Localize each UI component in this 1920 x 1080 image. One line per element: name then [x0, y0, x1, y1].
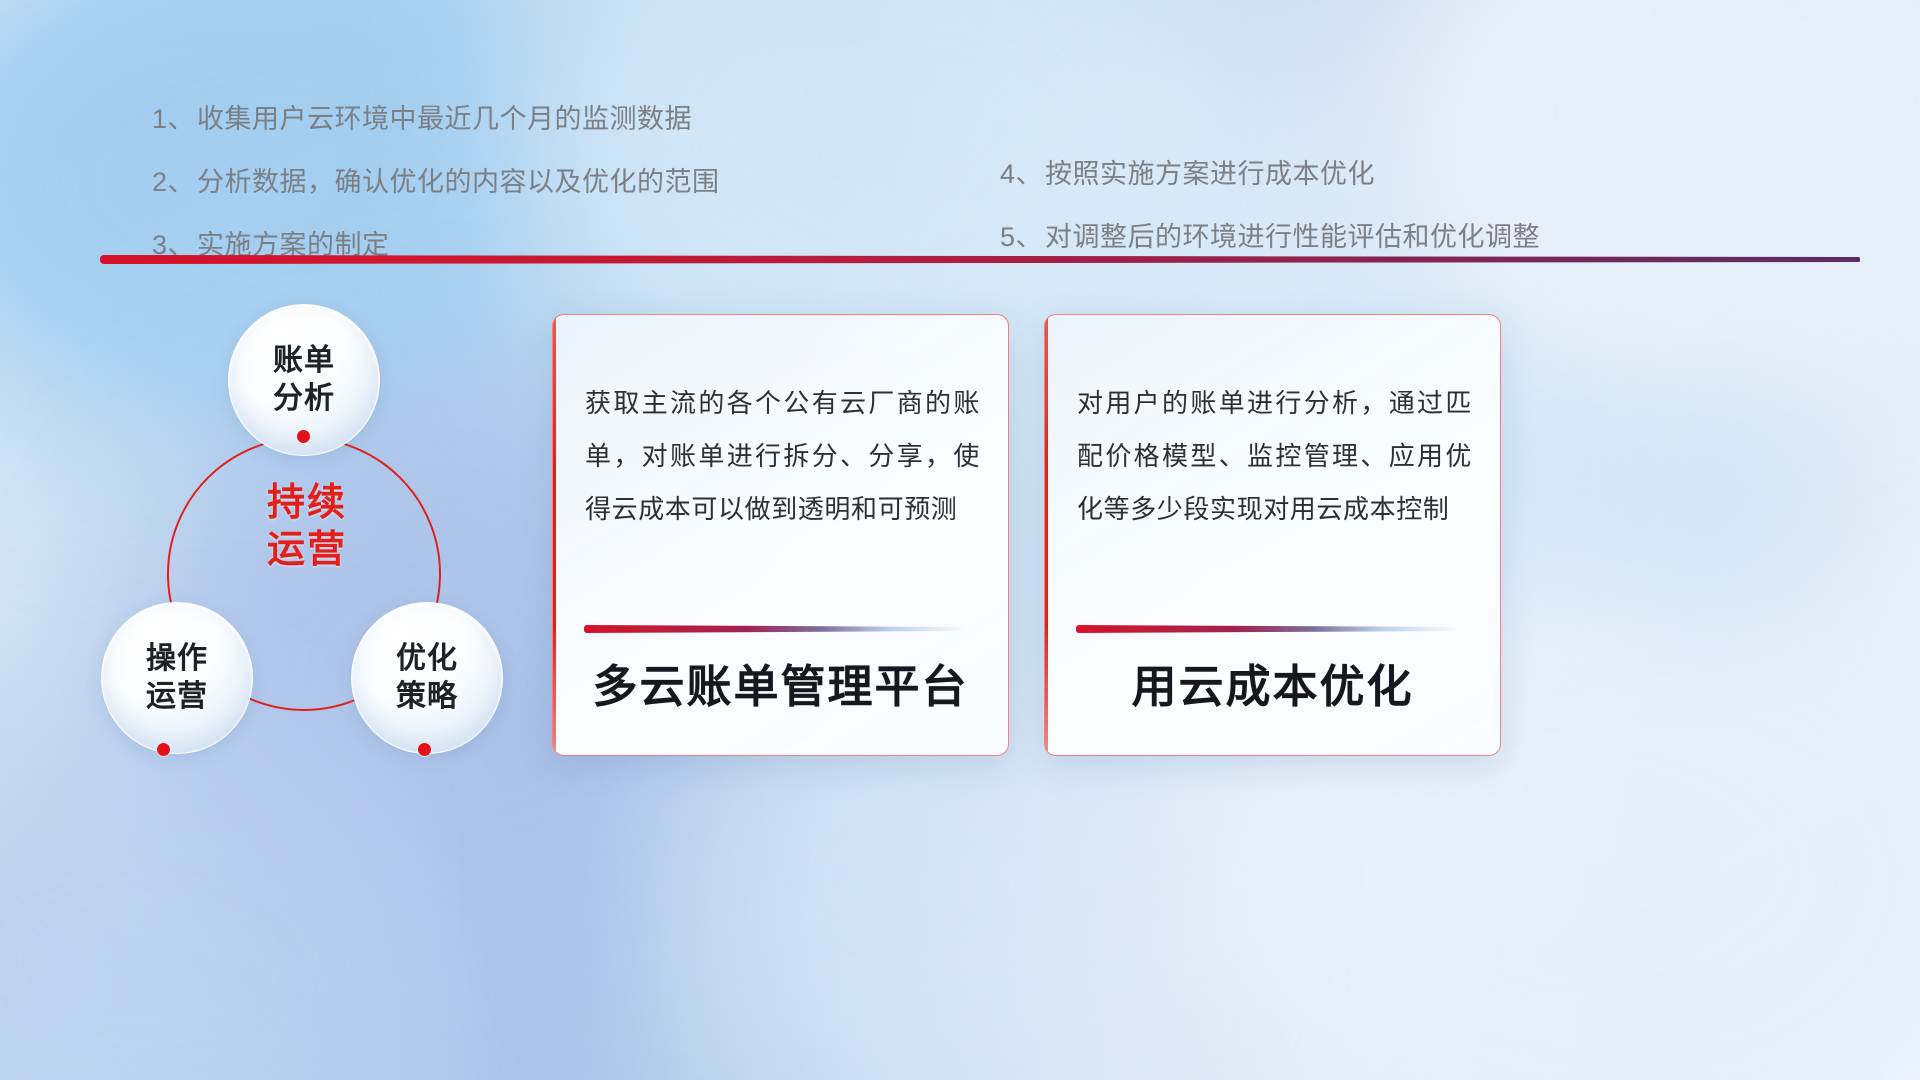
card-multicloud-billing-platform[interactable]: 获取主流的各个公有云厂商的账单，对账单进行拆分、分享，使得云成本可以做到透明和可…: [552, 314, 1009, 756]
card-cloud-cost-optimization[interactable]: 对用户的账单进行分析，通过匹配价格模型、监控管理、应用优化等多少段实现对用云成本…: [1044, 314, 1501, 756]
step-number: 2、: [152, 167, 195, 197]
card-body-text: 获取主流的各个公有云厂商的账单，对账单进行拆分、分享，使得云成本可以做到透明和可…: [585, 377, 980, 536]
bubble-label-line-1: 操作: [146, 640, 208, 678]
card-body-text: 对用户的账单进行分析，通过匹配价格模型、监控管理、应用优化等多少段实现对用云成本…: [1077, 377, 1472, 536]
diagram-node-dot-icon: [418, 743, 431, 756]
bubble-label-line-1: 优化: [396, 640, 458, 678]
center-label-line-2: 运营: [227, 527, 387, 574]
step-number: 4、: [1000, 159, 1043, 189]
diagram-bubble-optimization-strategy[interactable]: 优化 策略: [351, 602, 503, 754]
diagram-node-dot-icon: [157, 743, 170, 756]
bubble-label: 操作 运营: [146, 640, 208, 717]
step-item-4: 4、按照实施方案进行成本优化: [1000, 152, 1540, 191]
card-title: 多云账单管理平台: [553, 650, 1008, 715]
step-number: 5、: [1000, 222, 1043, 252]
center-label-line-1: 持续: [227, 480, 387, 527]
bubble-label-line-2: 运营: [146, 678, 208, 716]
bubble-label-line-2: 分析: [273, 380, 335, 418]
step-text: 对调整后的环境进行性能评估和优化调整: [1045, 222, 1540, 252]
divider-bar: [100, 255, 1860, 264]
bubble-label: 优化 策略: [396, 640, 458, 717]
slide-canvas: 1、收集用户云环境中最近几个月的监测数据 2、分析数据，确认优化的内容以及优化的…: [0, 0, 1920, 1080]
diagram-center-label: 持续 运营: [227, 480, 387, 574]
step-text: 按照实施方案进行成本优化: [1045, 159, 1375, 189]
card-accent-rule: [584, 625, 967, 633]
step-number: 1、: [152, 104, 195, 134]
continuous-operation-diagram: 持续 运营 账单 分析 操作 运营 优化 策略: [75, 285, 545, 785]
section-divider: [100, 255, 1860, 264]
bubble-label-line-1: 账单: [273, 342, 335, 380]
bubble-label-line-2: 策略: [396, 678, 458, 716]
card-accent-rule: [1076, 625, 1459, 633]
diagram-node-dot-icon: [297, 430, 310, 443]
step-item-5: 5、对调整后的环境进行性能评估和优化调整: [1000, 215, 1540, 254]
bubble-label: 账单 分析: [273, 342, 335, 419]
step-text: 分析数据，确认优化的内容以及优化的范围: [197, 167, 720, 197]
step-item-2: 2、分析数据，确认优化的内容以及优化的范围: [152, 160, 720, 199]
card-title: 用云成本优化: [1045, 650, 1500, 715]
step-item-1: 1、收集用户云环境中最近几个月的监测数据: [152, 97, 720, 136]
step-text: 收集用户云环境中最近几个月的监测数据: [197, 104, 692, 134]
diagram-bubble-operations[interactable]: 操作 运营: [101, 602, 253, 754]
